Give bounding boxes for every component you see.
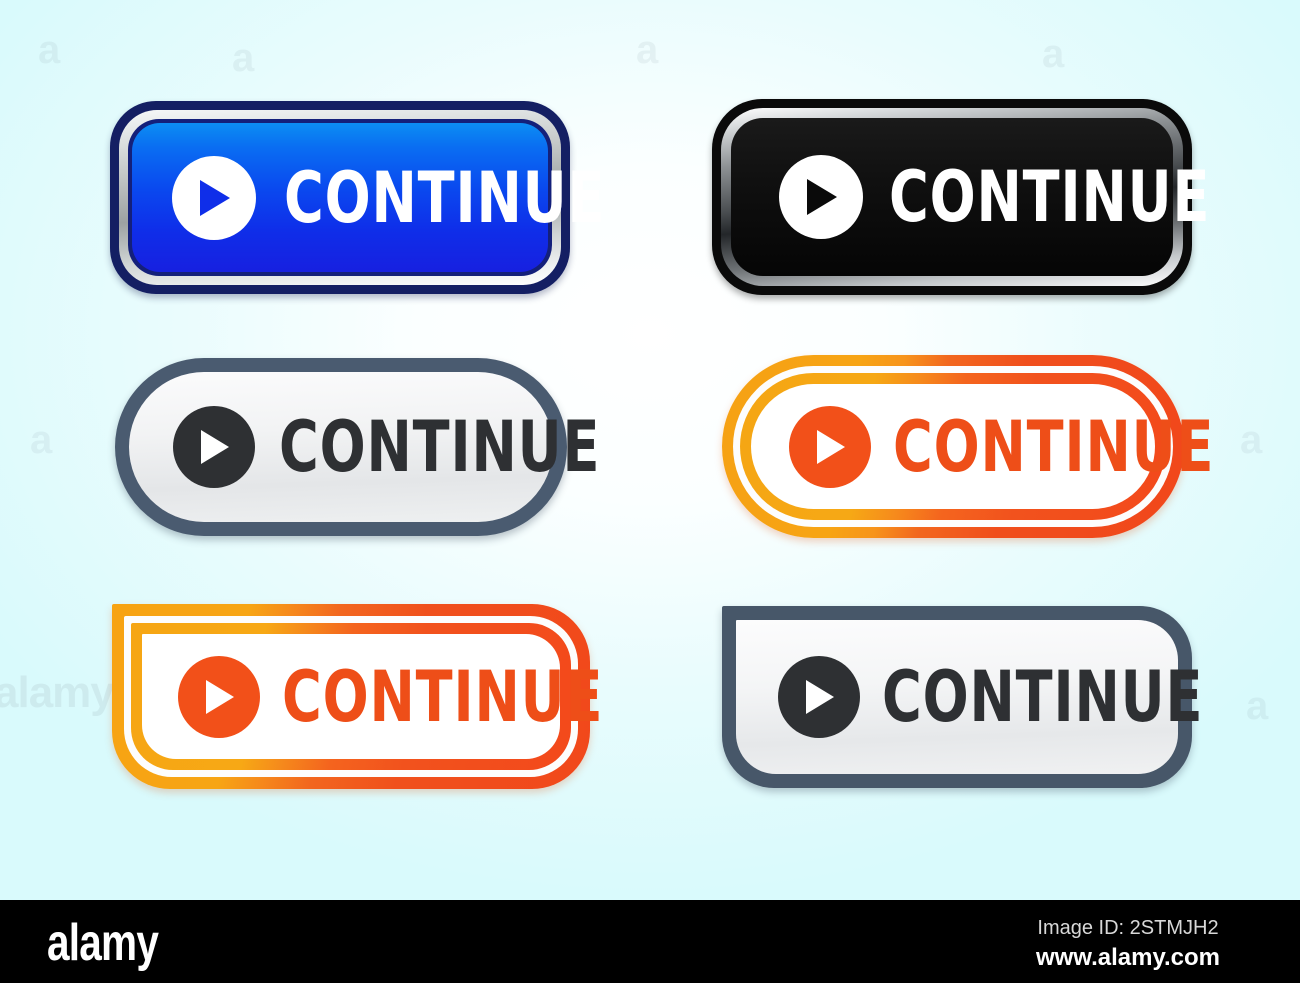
button-label: CONTINUE: [882, 662, 1203, 732]
continue-button-black[interactable]: CONTINUE: [712, 99, 1192, 295]
play-icon: [779, 155, 863, 239]
play-icon: [789, 406, 871, 488]
canvas: a a a a a a a a alamy CONTINUE: [0, 0, 1300, 983]
button-face: CONTINUE: [132, 123, 548, 272]
image-id-text: Image ID: 2STMJH2: [998, 916, 1258, 941]
button-label: CONTINUE: [282, 662, 603, 732]
button-label: CONTINUE: [893, 412, 1214, 482]
button-grid: CONTINUE CONTINUE: [0, 0, 1300, 900]
inner-gap: CONTINUE: [733, 366, 1173, 527]
button-face: CONTINUE: [731, 118, 1173, 276]
continue-button-blue[interactable]: CONTINUE: [110, 101, 570, 294]
continue-button-gray-pill[interactable]: CONTINUE: [115, 358, 567, 536]
play-icon: [778, 656, 860, 738]
gradient-ring: CONTINUE: [131, 623, 571, 770]
footer-credit: Image ID: 2STMJH2 www.alamy.com: [998, 916, 1258, 973]
button-face: CONTINUE: [736, 620, 1178, 774]
button-face: CONTINUE: [751, 384, 1155, 509]
chrome-ring: CONTINUE: [119, 110, 561, 285]
chrome-ring: CONTINUE: [721, 108, 1183, 286]
gradient-ring: CONTINUE: [740, 373, 1166, 520]
play-icon: [172, 156, 256, 240]
button-label: CONTINUE: [889, 162, 1210, 232]
continue-button-orange-rect[interactable]: CONTINUE: [112, 604, 590, 789]
alamy-logo: alamy: [47, 917, 158, 969]
play-icon: [178, 656, 260, 738]
inner-gap: CONTINUE: [124, 616, 578, 777]
button-label: CONTINUE: [284, 163, 605, 233]
play-icon: [173, 406, 255, 488]
footer-bar: alamy Image ID: 2STMJH2 www.alamy.com: [0, 900, 1300, 983]
button-label: CONTINUE: [279, 412, 600, 482]
alamy-url-text: www.alamy.com: [998, 943, 1258, 973]
button-face: CONTINUE: [129, 372, 553, 522]
inner-border: CONTINUE: [128, 119, 552, 276]
continue-button-gray-rect[interactable]: CONTINUE: [722, 606, 1192, 788]
button-face: CONTINUE: [142, 634, 560, 759]
continue-button-orange-pill[interactable]: CONTINUE: [722, 355, 1184, 538]
